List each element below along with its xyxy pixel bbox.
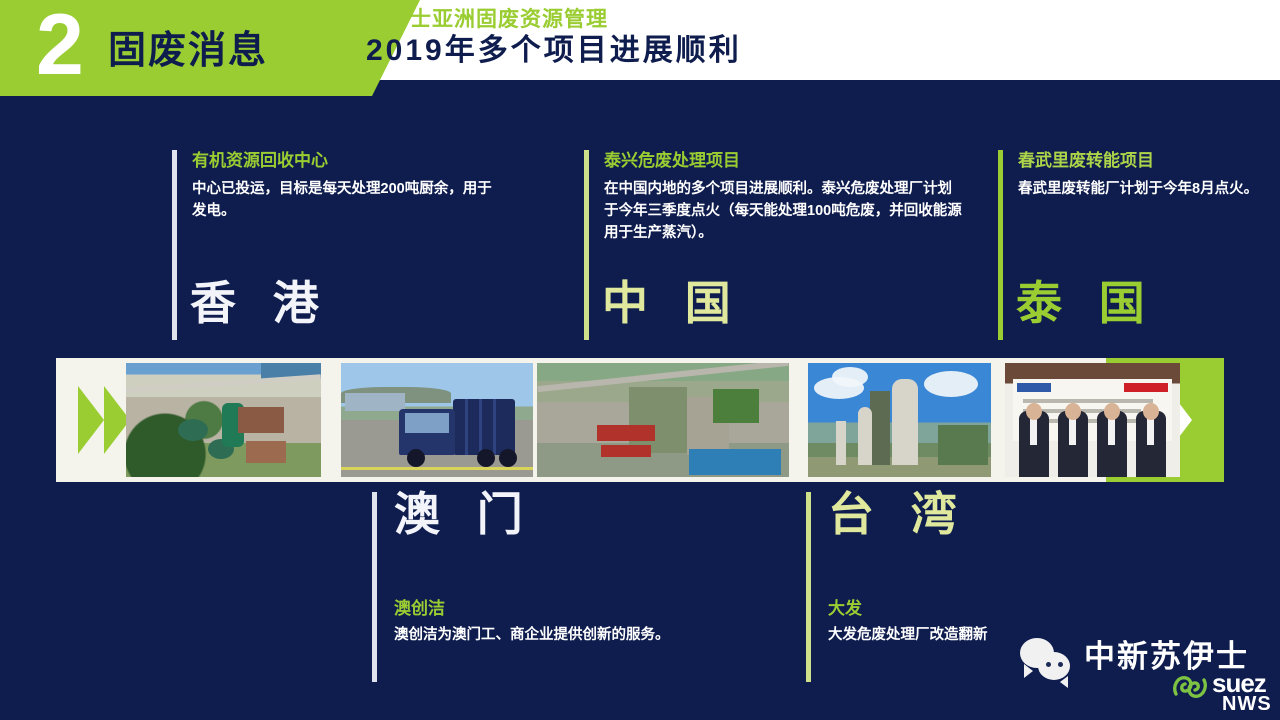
column-macau: 澳 门 澳创洁 澳创洁为澳门工、商企业提供创新的服务。 <box>372 492 712 682</box>
suez-swirl-icon <box>1170 672 1210 702</box>
region-label: 中 国 <box>602 278 743 328</box>
accent-bar <box>172 150 177 340</box>
column-china: 泰兴危废处理项目 在中国内地的多个项目进展顺利。泰兴危废处理厂计划于今年三季度点… <box>584 150 964 340</box>
section-label: 固废消息 <box>108 31 268 71</box>
photo-organic-resources-centre <box>126 363 321 477</box>
photo-industrial-plant-aerial <box>537 363 789 477</box>
photo-signing-ceremony <box>1005 363 1180 477</box>
region-label: 台 湾 <box>828 488 969 540</box>
wechat-icon <box>1020 638 1078 688</box>
accent-bar <box>584 150 589 340</box>
project-description: 春武里废转能厂计划于今年8月点火。 <box>1018 178 1268 200</box>
footer-branding: 中新苏伊士 suez NWS <box>1020 628 1270 712</box>
photo-refuse-truck <box>341 363 533 477</box>
column-hong-kong: 有机资源回收中心 中心已投运，目标是每天处理200吨厨余，用于发电。 香 港 <box>172 150 502 340</box>
photo-waste-to-energy-plant <box>808 363 991 477</box>
project-name: 澳创洁 <box>394 598 445 620</box>
marubeni-banner-logo <box>1124 383 1168 392</box>
accent-bar <box>372 492 377 682</box>
column-text: 有机资源回收中心 中心已投运，目标是每天处理200吨厨余，用于发电。 <box>192 150 502 222</box>
region-label: 泰 国 <box>1016 278 1157 328</box>
section-number: 2 <box>36 2 84 88</box>
project-name: 有机资源回收中心 <box>192 150 502 172</box>
project-description: 在中国内地的多个项目进展顺利。泰兴危废处理厂计划于今年三季度点火（每天能处理10… <box>604 178 964 244</box>
header-subtitle: 苏伊士亚洲固废资源管理 <box>366 8 608 32</box>
column-text: 泰兴危废处理项目 在中国内地的多个项目进展顺利。泰兴危废处理厂计划于今年三季度点… <box>604 150 964 244</box>
region-label: 香 港 <box>190 278 331 328</box>
column-text: 春武里废转能项目 春武里废转能厂计划于今年8月点火。 <box>1018 150 1268 200</box>
column-thailand: 春武里废转能项目 春武里废转能厂计划于今年8月点火。 泰 国 <box>998 150 1268 340</box>
project-name: 大发 <box>828 598 862 620</box>
section-tab: 2 固废消息 <box>0 0 420 96</box>
accent-bar <box>806 492 811 682</box>
accent-bar <box>998 150 1003 340</box>
nws-wordmark: NWS <box>1222 694 1272 714</box>
project-description: 中心已投运，目标是每天处理200吨厨余，用于发电。 <box>192 178 502 222</box>
project-name: 泰兴危废处理项目 <box>604 150 964 172</box>
slide-header: 2 固废消息 苏伊士亚洲固废资源管理 2019年多个项目进展顺利 <box>0 0 1280 96</box>
region-label: 澳 门 <box>394 488 535 540</box>
photo-filmstrip <box>56 358 1224 482</box>
page-title: 2019年多个项目进展顺利 <box>366 34 742 68</box>
project-name: 春武里废转能项目 <box>1018 150 1268 172</box>
slide-root: 2 固废消息 苏伊士亚洲固废资源管理 2019年多个项目进展顺利 有机资源回收中… <box>0 0 1280 720</box>
project-description: 澳创洁为澳门工、商企业提供创新的服务。 <box>394 624 694 646</box>
